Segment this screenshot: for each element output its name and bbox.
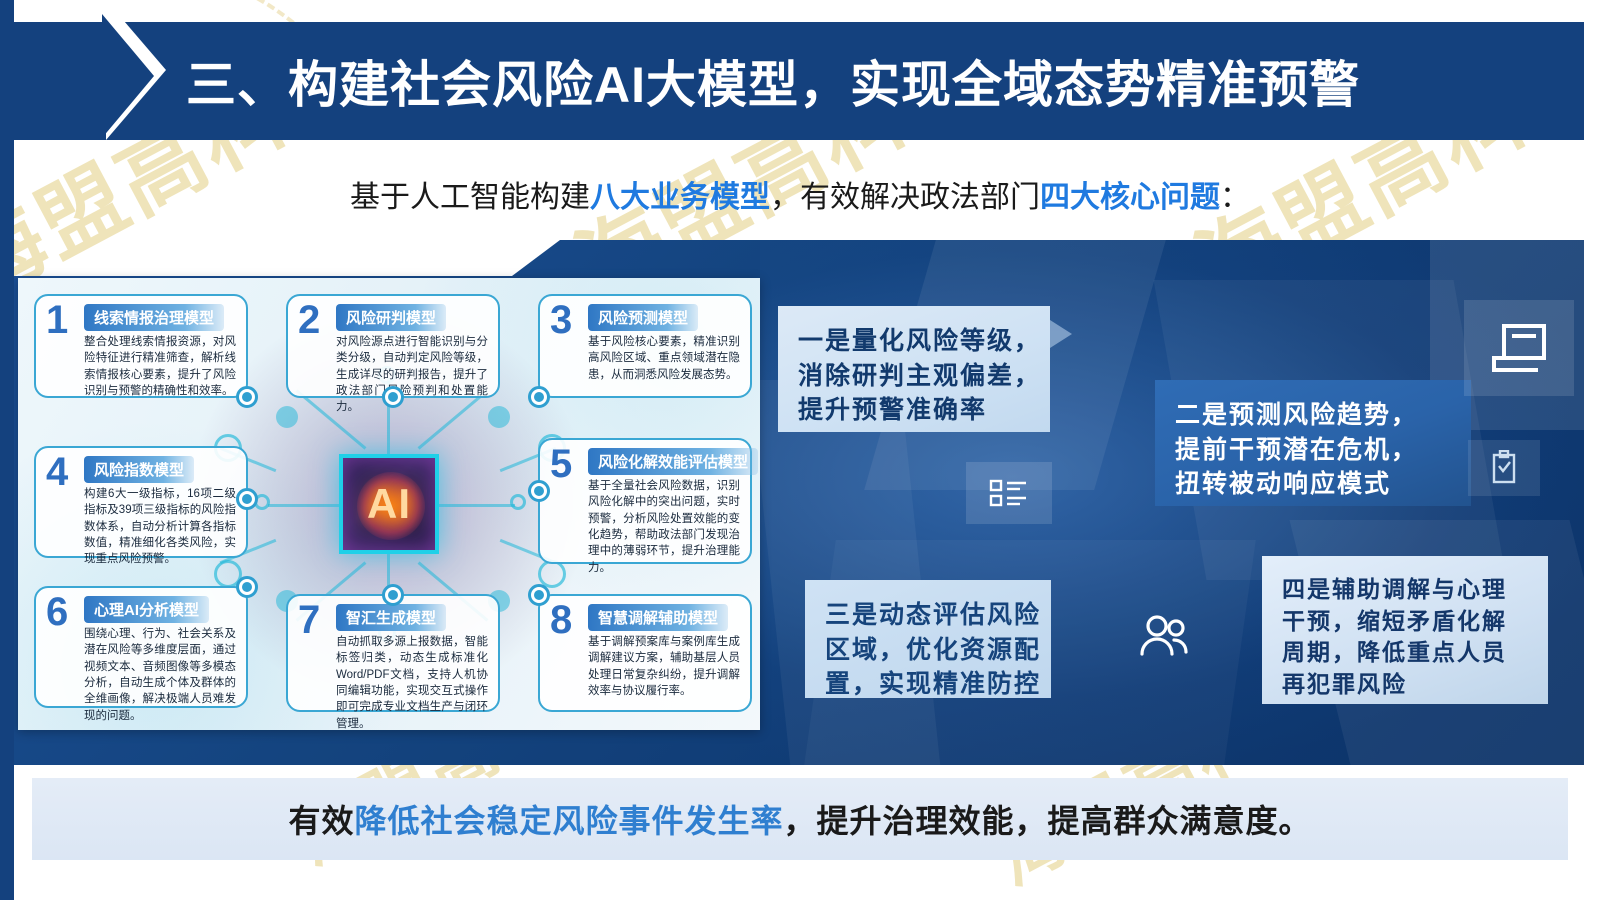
subtitle-part3: ： xyxy=(1220,181,1250,214)
model-description: 基于风险核心要素，精准识别高风险区域、重点领域潜在隐患，从而洞悉风险发展态势。 xyxy=(588,334,740,383)
callout-line: 三是动态评估风险 xyxy=(825,598,1031,633)
subtitle-highlight2: 四大核心问题 xyxy=(1040,181,1220,214)
model-title: 智汇生成模型 xyxy=(336,604,446,631)
monitor-icon xyxy=(1464,300,1574,396)
ai-chip-graphic: AI xyxy=(339,454,439,554)
circuit-node xyxy=(276,406,298,428)
model-title: 风险研判模型 xyxy=(336,304,446,331)
model-card-2[interactable]: 2 风险研判模型 对风险源点进行智能识别与分类分级，自动判定风险等级，生成详尽的… xyxy=(286,294,500,398)
callout-four[interactable]: 四是辅助调解与心理 干预，缩短矛盾化解 周期，降低重点人员 再犯罪风险 xyxy=(1262,556,1548,704)
circuit-node xyxy=(510,494,526,510)
model-number: 1 xyxy=(46,300,68,340)
slide-header: 三、构建社会风险AI大模型，实现全域态势精准预警 xyxy=(0,22,1600,140)
model-title: 线索情报治理模型 xyxy=(84,304,224,331)
model-description: 整合处理线索情报资源，对风险特征进行精准筛查，解析线索情报核心要素，提升了风险识… xyxy=(84,334,236,399)
connector-dot xyxy=(236,576,258,598)
model-number: 7 xyxy=(298,600,320,640)
model-description: 对风险源点进行智能识别与分类分级，自动判定风险等级，生成详尽的研判报告，提升了政… xyxy=(336,334,488,416)
connector-dot xyxy=(382,386,404,408)
connector-dot xyxy=(236,488,258,510)
model-card-6[interactable]: 6 心理AI分析模型 围绕心理、行为、社会关系及潜在风险等多维度层面，通过视频文… xyxy=(34,586,248,708)
callout-line: 扭转被动响应模式 xyxy=(1175,467,1451,502)
callout-line: 提升预警准确率 xyxy=(798,393,1030,428)
callout-line: 提前干预潜在危机， xyxy=(1175,433,1451,468)
connector-dot xyxy=(382,584,404,606)
circuit-node xyxy=(488,406,510,428)
model-number: 8 xyxy=(550,600,572,640)
users-icon xyxy=(1120,602,1206,668)
callout-three[interactable]: 三是动态评估风险 区域，优化资源配 置，实现精准防控 xyxy=(805,580,1051,698)
model-description: 自动抓取多源上报数据，智能标签归类，动态生成标准化Word/PDF文档，支持人机… xyxy=(336,634,488,732)
callout-line: 一是量化风险等级， xyxy=(798,324,1030,359)
model-card-5[interactable]: 5 风险化解效能评估模型 基于全量社会风险数据，识别风险化解中的突出问题，实时预… xyxy=(538,438,752,564)
callout-line: 干预，缩短矛盾化解 xyxy=(1282,606,1528,638)
model-description: 基于全量社会风险数据，识别风险化解中的突出问题，实时预警，分析风险处置效能的变化… xyxy=(588,478,740,576)
banner-part1: 有效 xyxy=(288,803,354,839)
callout-line: 四是辅助调解与心理 xyxy=(1282,574,1528,606)
connector-dot xyxy=(236,386,258,408)
connector-dot xyxy=(528,584,550,606)
subtitle: 基于人工智能构建八大业务模型，有效解决政法部门四大核心问题： xyxy=(0,172,1600,216)
subtitle-part1: 基于人工智能构建 xyxy=(350,181,590,214)
model-number: 4 xyxy=(46,452,68,492)
banner-text: 有效降低社会稳定风险事件发生率，提升治理效能，提高群众满意度。 xyxy=(288,796,1311,842)
subtitle-part2: ，有效解决政法部门 xyxy=(770,181,1040,214)
model-card-1[interactable]: 1 线索情报治理模型 整合处理线索情报资源，对风险特征进行精准筛查，解析线索情报… xyxy=(34,294,248,398)
chevron-right-icon-inner xyxy=(102,14,154,138)
model-title: 风险化解效能评估模型 xyxy=(588,448,758,475)
list-view-icon xyxy=(966,462,1052,524)
model-number: 3 xyxy=(550,300,572,340)
callout-line: 消除研判主观偏差， xyxy=(798,359,1030,394)
model-number: 5 xyxy=(550,444,572,484)
callout-line: 置，实现精准防控 xyxy=(825,667,1031,702)
callout-one[interactable]: 一是量化风险等级， 消除研判主观偏差， 提升预警准确率 xyxy=(778,306,1050,432)
subtitle-highlight1: 八大业务模型 xyxy=(590,181,770,214)
connector-dot xyxy=(528,480,550,502)
left-edge-bar xyxy=(0,0,14,900)
model-description: 构建6大一级指标，16项二级指标及39项三级指标的风险指数体系，自动分析计算各指… xyxy=(84,486,236,568)
connector-dot xyxy=(528,386,550,408)
bottom-banner: 有效降低社会稳定风险事件发生率，提升治理效能，提高群众满意度。 xyxy=(32,778,1568,860)
model-number: 6 xyxy=(46,592,68,632)
callout-line: 再犯罪风险 xyxy=(1282,669,1528,701)
model-card-8[interactable]: 8 智慧调解辅助模型 基于调解预案库与案例库生成调解建议方案，辅助基层人员处理日… xyxy=(538,594,752,712)
model-card-4[interactable]: 4 风险指数模型 构建6大一级指标，16项二级指标及39项三级指标的风险指数体系… xyxy=(34,446,248,558)
model-title: 心理AI分析模型 xyxy=(84,596,209,623)
model-title: 风险指数模型 xyxy=(84,456,194,483)
model-card-3[interactable]: 3 风险预测模型 基于风险核心要素，精准识别高风险区域、重点领域潜在隐患，从而洞… xyxy=(538,294,752,398)
model-description: 围绕心理、行为、社会关系及潜在风险等多维度层面，通过视频文本、音频图像等多模态分… xyxy=(84,626,236,724)
model-title: 风险预测模型 xyxy=(588,304,698,331)
circuit-trace xyxy=(435,504,515,507)
models-panel: AI 1 线索情报治理模型 整合处理线索情报资源，对风险特征进行精准筛查，解析线… xyxy=(18,278,760,730)
clipboard-check-icon xyxy=(1468,440,1540,496)
callout-two[interactable]: 二是预测风险趋势， 提前干预潜在危机， 扭转被动响应模式 xyxy=(1155,380,1471,506)
callout-line: 区域，优化资源配 xyxy=(825,633,1031,668)
callout-line: 二是预测风险趋势， xyxy=(1175,398,1451,433)
page-title: 三、构建社会风险AI大模型，实现全域态势精准预警 xyxy=(186,45,1360,117)
circuit-trace xyxy=(268,504,343,507)
model-description: 基于调解预案库与案例库生成调解建议方案，辅助基层人员处理日常复杂纠纷，提升调解效… xyxy=(588,634,740,699)
banner-highlight: 降低社会稳定风险事件发生率 xyxy=(354,803,783,839)
right-edge-bar xyxy=(1584,0,1600,900)
model-title: 智慧调解辅助模型 xyxy=(588,604,728,631)
callout-line: 周期，降低重点人员 xyxy=(1282,637,1528,669)
ai-chip-label: AI xyxy=(367,480,411,528)
banner-part2: ，提升治理效能，提高群众满意度。 xyxy=(784,803,1312,839)
model-card-7[interactable]: 7 智汇生成模型 自动抓取多源上报数据，智能标签归类，动态生成标准化Word/P… xyxy=(286,594,500,712)
model-number: 2 xyxy=(298,300,320,340)
